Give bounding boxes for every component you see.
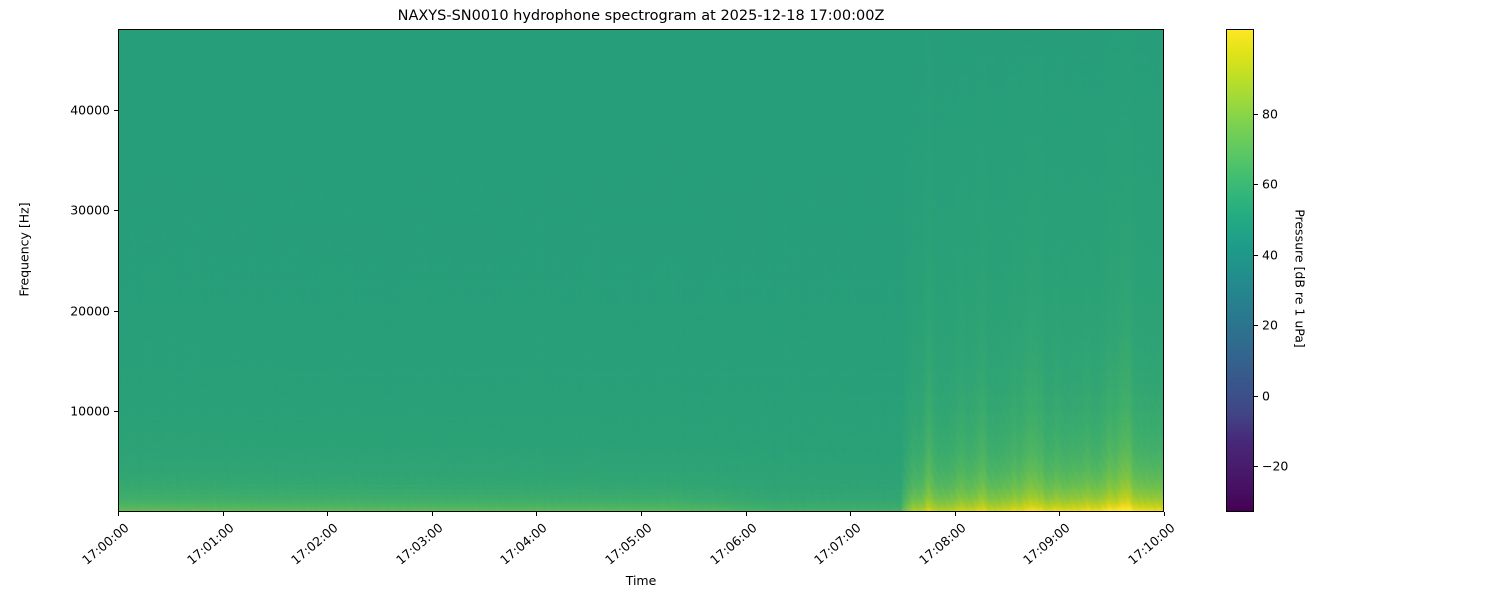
x-tick-label: 17:01:00 [178,520,237,573]
page-title: NAXYS-SN0010 hydrophone spectrogram at 2… [118,8,1164,24]
x-tick-label: 17:02:00 [282,520,341,573]
x-tick-mark [746,512,747,516]
x-tick-mark [536,512,537,516]
colorbar-tick-label: 20 [1262,318,1278,333]
x-tick-mark [850,512,851,516]
colorbar-tick-mark [1254,255,1258,256]
x-tick-label: 17:08:00 [910,520,969,573]
spectrogram-plot-area [118,29,1164,512]
y-axis-label: Frequency [Hz] [17,40,32,460]
colorbar-tick-label: 60 [1262,177,1278,192]
colorbar-tick-mark [1254,114,1258,115]
y-tick-label: 10000 [40,404,110,419]
x-tick-mark [118,512,119,516]
colorbar-tick-mark [1254,184,1258,185]
colorbar-tick-label: −20 [1262,459,1288,474]
x-tick-mark [1059,512,1060,516]
spectrogram-image [119,30,1163,511]
x-tick-mark [223,512,224,516]
colorbar-label: Pressure [dB re 1 uPa] [1293,69,1308,489]
x-tick-label: 17:06:00 [701,520,760,573]
x-tick-mark [641,512,642,516]
colorbar-tick-mark [1254,396,1258,397]
colorbar-tick-label: 80 [1262,106,1278,121]
x-axis-label: Time [118,573,1164,588]
y-tick-label: 40000 [40,102,110,117]
x-tick-mark [1164,512,1165,516]
x-tick-label: 17:07:00 [805,520,864,573]
y-tick-mark [114,311,118,312]
y-tick-mark [114,210,118,211]
x-tick-mark [432,512,433,516]
y-tick-label: 30000 [40,203,110,218]
x-tick-label: 17:00:00 [73,520,132,573]
y-tick-label: 20000 [40,303,110,318]
colorbar [1226,29,1254,512]
colorbar-tick-label: 40 [1262,247,1278,262]
x-tick-mark [327,512,328,516]
y-tick-mark [114,110,118,111]
x-tick-label: 17:04:00 [491,520,550,573]
colorbar-tick-mark [1254,325,1258,326]
x-tick-label: 17:10:00 [1119,520,1178,573]
x-tick-label: 17:09:00 [1014,520,1073,573]
x-tick-mark [955,512,956,516]
x-tick-label: 17:05:00 [596,520,655,573]
y-tick-mark [114,411,118,412]
colorbar-tick-mark [1254,466,1258,467]
colorbar-tick-label: 0 [1262,388,1270,403]
x-tick-label: 17:03:00 [387,520,446,573]
spectrogram-figure: NAXYS-SN0010 hydrophone spectrogram at 2… [0,0,1500,600]
